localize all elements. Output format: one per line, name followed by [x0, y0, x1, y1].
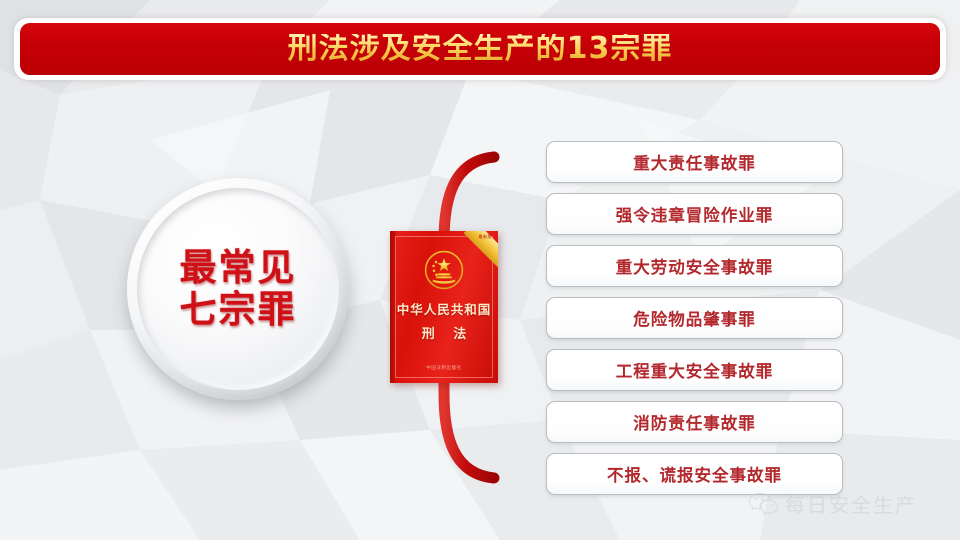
- crime-list-item-1[interactable]: 重大责任事故罪: [546, 141, 843, 183]
- wechat-icon: [748, 491, 778, 516]
- crime-item-label: 重大责任事故罪: [633, 150, 756, 174]
- national-emblem-icon: [424, 250, 464, 290]
- watermark: 每日安全生产: [748, 489, 917, 518]
- circle-badge-line-1: 最常见: [180, 247, 297, 289]
- slide-root: 刑法涉及安全生产的13宗罪 最常见 七宗罪 最新版: [0, 0, 960, 540]
- crime-item-label: 工程重大安全事故罪: [616, 358, 774, 382]
- book-corner-label: 最新版: [479, 234, 493, 240]
- crime-list: 重大责任事故罪 强令违章冒险作业罪 重大劳动安全事故罪 危险物品肇事罪 工程重大…: [546, 141, 843, 495]
- crime-list-item-6[interactable]: 消防责任事故罪: [546, 401, 843, 443]
- book-title-line-1: 中华人民共和国: [390, 303, 498, 317]
- title-bar-outer: 刑法涉及安全生产的13宗罪: [14, 18, 946, 80]
- circle-badge-line-2: 七宗罪: [180, 289, 297, 331]
- crime-list-item-4[interactable]: 危险物品肇事罪: [546, 297, 843, 339]
- crime-item-label: 消防责任事故罪: [633, 410, 756, 434]
- circle-badge: 最常见 七宗罪: [127, 178, 349, 400]
- crime-list-item-3[interactable]: 重大劳动安全事故罪: [546, 245, 843, 287]
- page-title: 刑法涉及安全生产的13宗罪: [288, 34, 673, 64]
- crime-item-label: 重大劳动安全事故罪: [616, 254, 774, 278]
- circle-badge-inner: 最常见 七宗罪: [137, 188, 339, 390]
- crime-list-item-2[interactable]: 强令违章冒险作业罪: [546, 193, 843, 235]
- watermark-label: 每日安全生产: [785, 489, 917, 518]
- crime-list-item-5[interactable]: 工程重大安全事故罪: [546, 349, 843, 391]
- book-cover: 最新版 中华人民共和国: [390, 231, 498, 383]
- title-bar: 刑法涉及安全生产的13宗罪: [20, 23, 940, 75]
- crime-item-label: 强令违章冒险作业罪: [616, 202, 774, 226]
- criminal-law-book: 最新版 中华人民共和国: [390, 231, 498, 383]
- book-publisher: 中国法制出版社: [390, 365, 498, 371]
- crime-item-label: 危险物品肇事罪: [633, 306, 756, 330]
- book-title-line-2: 刑 法: [390, 323, 498, 342]
- crime-item-label: 不报、谎报安全事故罪: [607, 462, 782, 486]
